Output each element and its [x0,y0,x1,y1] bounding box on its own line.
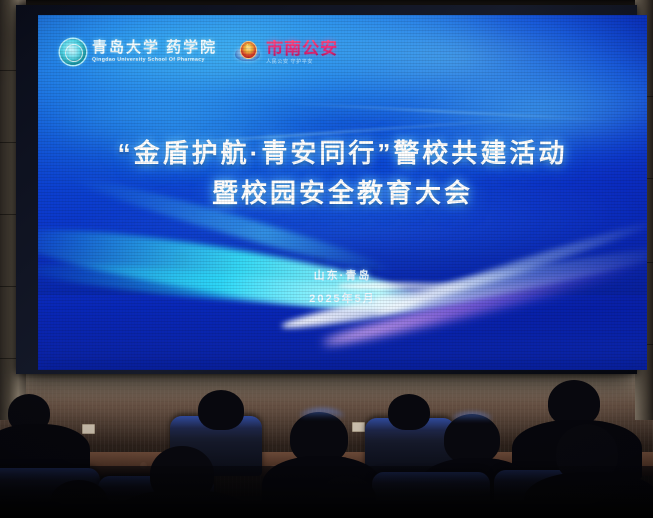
led-scanlines [38,15,647,370]
foreground-shadow [0,466,653,518]
auditorium-scene: 青岛大学 药学院 Qingdao University School Of Ph… [0,0,653,518]
led-screen[interactable]: 青岛大学 药学院 Qingdao University School Of Ph… [38,15,647,370]
led-screen-bezel: 青岛大学 药学院 Qingdao University School Of Ph… [16,5,637,374]
person-head-2 [388,394,430,430]
person-head-1 [198,390,244,430]
